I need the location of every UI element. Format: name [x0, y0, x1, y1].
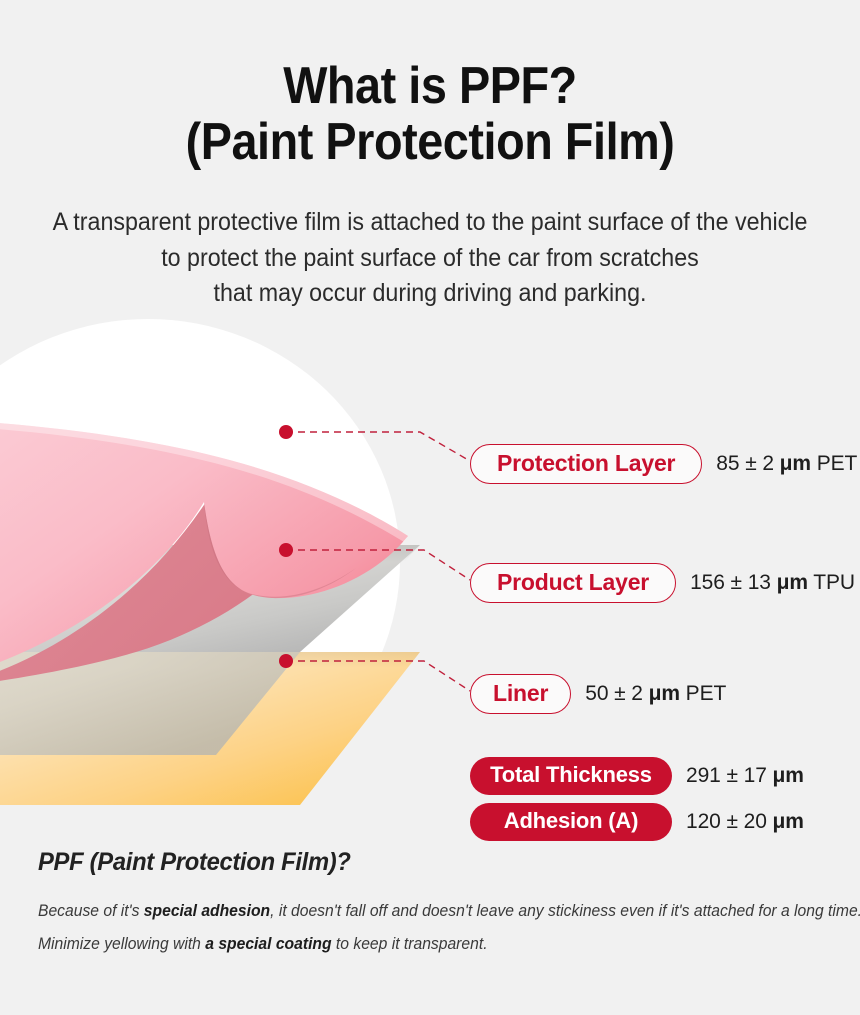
measure-unit-total: μm [773, 764, 804, 787]
callout-protection-layer: Protection Layer 85 ± 2 μm PET [470, 444, 857, 484]
measure-material-product: TPU [808, 571, 855, 594]
measure-unit-liner: μm [649, 682, 680, 705]
leader-dot-product [279, 543, 293, 557]
measure-total-thickness: 291 ± 17 μm [686, 764, 804, 788]
measure-unit-adhesion: μm [773, 810, 804, 833]
leader-dot-protection [279, 425, 293, 439]
measure-adhesion: 120 ± 20 μm [686, 810, 804, 834]
measure-value-product: 156 ± 13 [690, 571, 777, 594]
callout-liner: Liner 50 ± 2 μm PET [470, 674, 726, 714]
summary-block: Total Thickness 291 ± 17 μm Adhesion (A)… [470, 757, 804, 849]
measure-value-total: 291 ± 17 [686, 764, 773, 787]
measure-value-adhesion: 120 ± 20 [686, 810, 773, 833]
measure-unit-product: μm [777, 571, 808, 594]
footer-line-1: Because of it's special adhesion, it doe… [38, 895, 789, 928]
leader-dot-liner [279, 654, 293, 668]
measure-liner: 50 ± 2 μm PET [585, 682, 726, 706]
measure-protection-layer: 85 ± 2 μm PET [716, 452, 857, 476]
footer-line-2: Minimize yellowing with a special coatin… [38, 928, 789, 961]
pill-product-layer[interactable]: Product Layer [470, 563, 676, 603]
title-line-2: (Paint Protection Film) [43, 114, 817, 170]
callout-product-layer: Product Layer 156 ± 13 μm TPU [470, 563, 855, 603]
footer-body: Because of it's special adhesion, it doe… [38, 895, 828, 961]
footer-title: PPF (Paint Protection Film)? [38, 848, 789, 877]
infographic-page: What is PPF? (Paint Protection Film) A t… [0, 0, 860, 1015]
measure-unit-protection: μm [780, 452, 811, 475]
page-subtitle: A transparent protective film is attache… [0, 205, 860, 312]
footer-line-1-c: , it doesn't fall off and doesn't leave … [270, 902, 860, 920]
footer-line-2-a: Minimize yellowing with [38, 935, 205, 953]
measure-value-protection: 85 ± 2 [716, 452, 779, 475]
footer-block: PPF (Paint Protection Film)? Because of … [38, 848, 828, 961]
ppf-layer-illustration [0, 300, 520, 820]
footer-line-2-c: to keep it transparent. [332, 935, 488, 953]
pill-adhesion[interactable]: Adhesion (A) [470, 803, 672, 841]
measure-material-protection: PET [811, 452, 857, 475]
page-title: What is PPF? (Paint Protection Film) [0, 58, 860, 170]
measure-value-liner: 50 ± 2 [585, 682, 648, 705]
measure-product-layer: 156 ± 13 μm TPU [690, 571, 855, 595]
pill-protection-layer[interactable]: Protection Layer [470, 444, 702, 484]
measure-material-liner: PET [680, 682, 726, 705]
subtitle-line-1: A transparent protective film is attache… [30, 205, 830, 241]
title-line-1: What is PPF? [43, 58, 817, 114]
pill-liner[interactable]: Liner [470, 674, 571, 714]
footer-line-1-a: Because of it's [38, 902, 144, 920]
summary-row-total-thickness: Total Thickness 291 ± 17 μm [470, 757, 804, 795]
pill-total-thickness[interactable]: Total Thickness [470, 757, 672, 795]
summary-row-adhesion: Adhesion (A) 120 ± 20 μm [470, 803, 804, 841]
footer-emphasis-special-adhesion: special adhesion [144, 902, 270, 920]
subtitle-line-2: to protect the paint surface of the car … [30, 241, 830, 277]
footer-emphasis-special-coating: a special coating [205, 935, 331, 953]
